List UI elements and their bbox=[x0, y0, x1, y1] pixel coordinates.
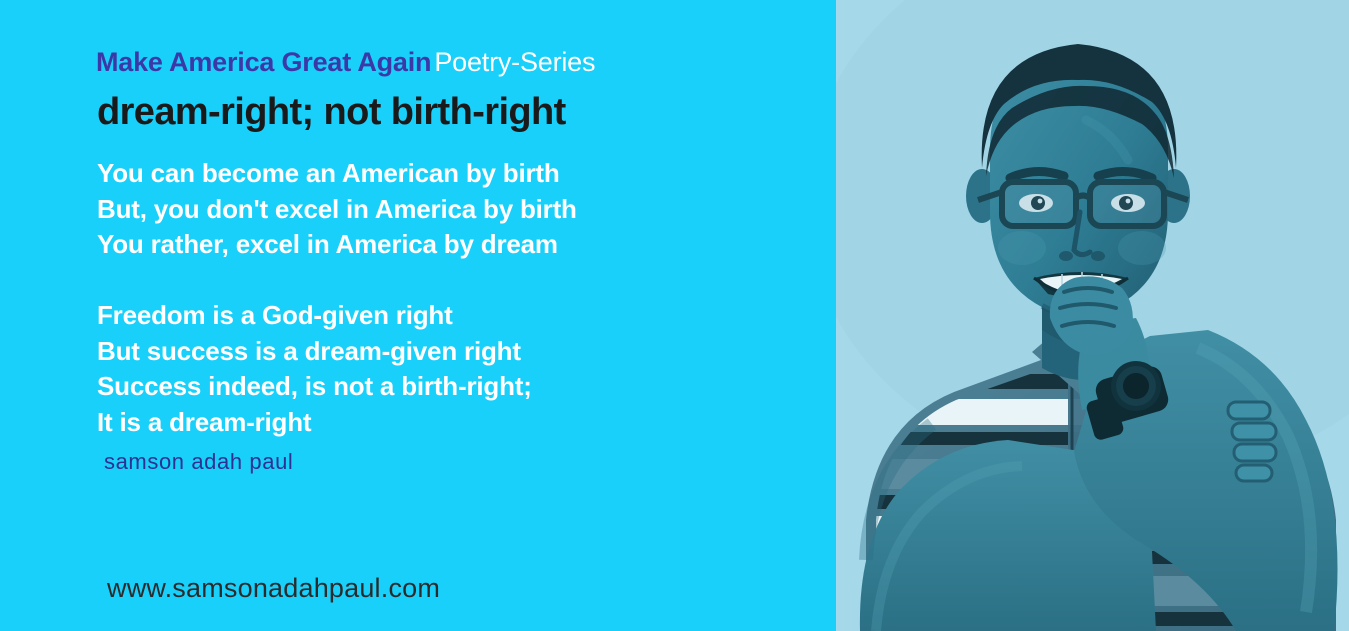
portrait-illustration bbox=[836, 0, 1349, 631]
series-brand: Make America Great Again bbox=[96, 47, 431, 77]
poem-title: dream-right; not birth-right bbox=[97, 92, 566, 134]
poetry-poster: Make America Great AgainPoetry-Series dr… bbox=[0, 0, 1349, 631]
verse-line: It is a dream-right bbox=[97, 405, 532, 441]
poem-stanza-1: You can become an American by birth But,… bbox=[97, 156, 577, 263]
author-portrait bbox=[836, 0, 1349, 631]
verse-line: You can become an American by birth bbox=[97, 156, 577, 192]
series-label: Make America Great AgainPoetry-Series bbox=[96, 48, 595, 76]
series-suffix: Poetry-Series bbox=[434, 47, 595, 77]
verse-line: Freedom is a God-given right bbox=[97, 298, 532, 334]
poem-stanza-2: Freedom is a God-given right But success… bbox=[97, 298, 532, 440]
author-byline: samson adah paul bbox=[104, 449, 293, 475]
verse-line: Success indeed, is not a birth-right; bbox=[97, 369, 532, 405]
text-panel: Make America Great AgainPoetry-Series dr… bbox=[0, 0, 836, 631]
verse-line: But success is a dream-given right bbox=[97, 334, 532, 370]
verse-line: But, you don't excel in America by birth bbox=[97, 192, 577, 228]
website-url[interactable]: www.samsonadahpaul.com bbox=[107, 573, 440, 604]
verse-line: You rather, excel in America by dream bbox=[97, 227, 577, 263]
